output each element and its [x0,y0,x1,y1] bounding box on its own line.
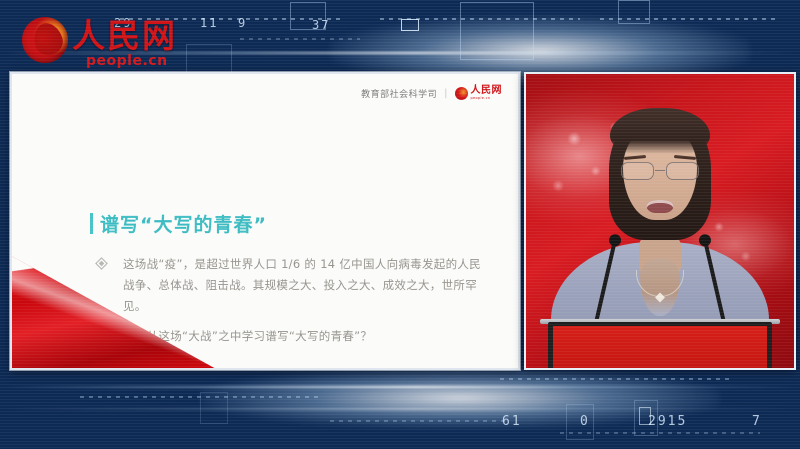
slide-title: 谱写“大写的青春” [90,210,267,237]
slide-people-cn-logo: 人民网 people.cn [455,86,503,101]
slide-title-accent-bar [90,213,93,234]
slide-title-text: 谱写“大写的青春” [100,210,267,237]
people-cn-logo: 人民网 people.cn [22,16,182,70]
background-streak-3 [0,408,800,410]
slide-logo-url-text: people.cn [471,97,503,101]
background-rect-9 [200,392,228,424]
background-number-3: 37 [312,18,330,32]
glasses-lens-left [621,162,654,180]
slide-logo-text: 人民网 people.cn [471,86,503,101]
presentation-slide: 教育部社会科学司 | 人民网 people.cn 谱写“大写的青春” 这场战“疫… [10,72,520,370]
background-number-6: 2915 [648,414,687,429]
background-number-2: 9 [238,16,247,30]
silk-shape [10,254,218,370]
slide-organization-label: 教育部社会科学司 [361,87,437,100]
background-number-4: 61 [502,414,522,429]
glasses-lens-right [666,162,699,180]
slide-logo-chinese-name: 人民网 [471,86,503,96]
broadcast-screen: 29 11 9 37 61 0 2915 7 人民网 people.cn 教育部… [0,0,800,449]
speaker-video-panel [524,72,796,370]
background-rect-2 [460,2,534,60]
podium-front-panel [553,326,767,368]
background-dotline-6 [500,378,730,380]
slide-header: 教育部社会科学司 | 人民网 people.cn [361,86,502,101]
people-cn-swoosh-icon-small [455,87,468,100]
speaker-glasses [621,162,699,179]
speaker-mouth [647,200,674,213]
red-silk-ribbon-decoration [10,254,218,370]
background-number-5: 0 [580,414,590,429]
slide-header-separator: | [444,88,447,99]
background-dotline-7 [330,420,510,422]
background-number-7: 7 [752,414,762,429]
glasses-bridge [655,170,665,171]
background-rect-4 [401,19,419,31]
background-number-1: 11 [200,16,218,30]
background-rect-3 [618,0,650,24]
people-cn-swoosh-icon [22,17,68,63]
podium [548,322,772,368]
logo-url-text: people.cn [86,53,168,69]
background-streak-2 [0,386,800,388]
logo-chinese-name: 人民网 [72,18,177,54]
background-dotline-4 [240,38,360,40]
speaker-hair-fringe [610,108,710,154]
